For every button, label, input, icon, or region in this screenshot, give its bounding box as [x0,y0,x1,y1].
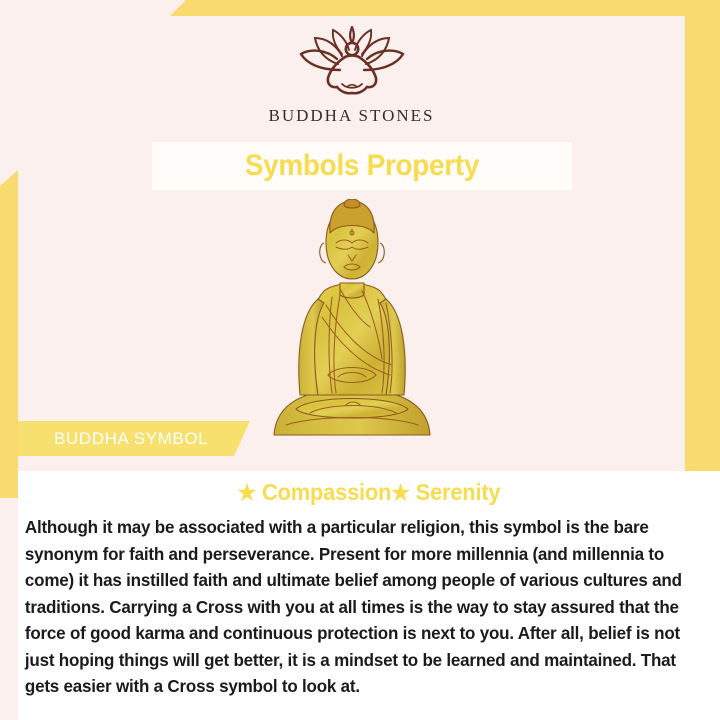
hero-panel: BUDDHA STONES Symbols Property [18,16,685,471]
content-subtitle: ★ Compassion★ Serenity [36,471,703,506]
star-icon-2: ★ [391,480,410,505]
ribbon-label: BUDDHA SYMBOL [18,429,208,449]
brand-name: BUDDHA STONES [18,106,685,126]
content-paragraph: Although it may be associated with a par… [18,506,709,700]
buddha-illustration [18,194,685,439]
subtitle-word-serenity: Serenity [410,479,501,505]
star-icon-1: ★ [238,480,257,505]
decorative-left-bar [0,170,18,498]
title-strip: Symbols Property [152,142,572,190]
infographic-page: BUDDHA STONES Symbols Property [0,0,720,720]
buddha-symbol-ribbon: BUDDHA SYMBOL [18,421,250,456]
brand-block: BUDDHA STONES [18,26,685,126]
seated-buddha-statue-icon [266,199,438,439]
lotus-meditation-icon [297,26,407,104]
content-card: ★ Compassion★ Serenity Although it may b… [18,471,720,720]
subtitle-word-compassion: Compassion [256,479,391,505]
page-title: Symbols Property [245,149,479,183]
decorative-top-bar [0,0,720,16]
decorative-right-bar [685,0,720,540]
